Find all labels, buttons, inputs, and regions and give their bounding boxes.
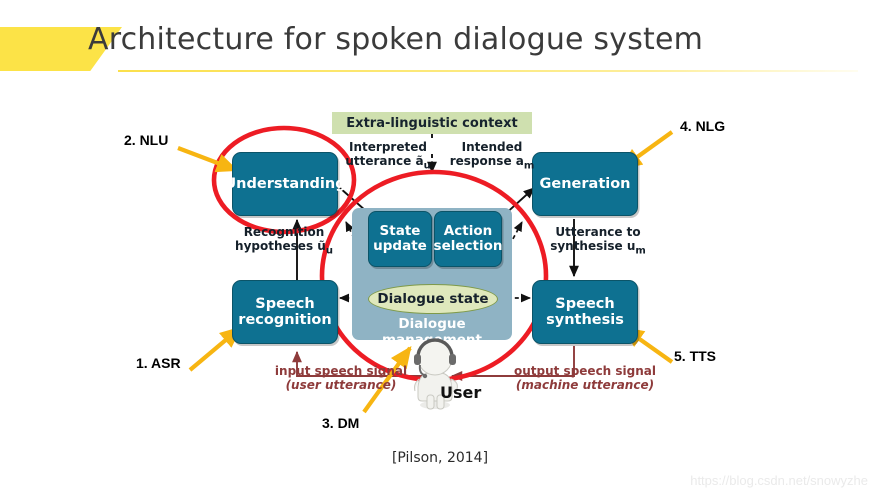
label-input-speech-signal: input speech signal (user utterance) [258, 364, 424, 393]
box-speech-synthesis-line1: Speechsynthesis [546, 296, 624, 328]
label-recognition-hypotheses: Recognition hypotheses ũu [226, 225, 342, 258]
callout-dm: 3. DM [322, 415, 359, 431]
label-intended-response-line2: response a [450, 154, 524, 168]
label-interpreted-utterance-sub: u [424, 161, 431, 172]
label-recognition-hypotheses-line2: hypotheses ũ [235, 239, 326, 253]
box-generation[interactable]: Generation [532, 152, 638, 216]
extra-linguistic-context-bar: Extra-linguistic context [332, 112, 532, 134]
label-utterance-to-synthesise-sub: m [635, 246, 645, 257]
label-input-speech-signal-main: input speech signal [275, 364, 407, 378]
box-speech-recognition-line1: Speechrecognition [238, 296, 331, 328]
box-understanding[interactable]: Understanding [232, 152, 338, 216]
user-label: User [440, 383, 481, 402]
callout-nlg: 4. NLG [680, 118, 725, 134]
callout-tts: 5. TTS [674, 348, 716, 364]
label-output-speech-signal-main: output speech signal [514, 364, 656, 378]
label-recognition-hypotheses-sub: u [326, 246, 333, 257]
label-recognition-hypotheses-line1: Recognition [244, 225, 325, 239]
watermark: https://blog.csdn.net/snowyzhe [690, 473, 868, 488]
box-speech-recognition[interactable]: Speechrecognition [232, 280, 338, 344]
slide-header: Architecture for spoken dialogue system [0, 0, 880, 80]
architecture-diagram: Extra-linguistic context Dialogue manage… [0, 80, 880, 494]
label-interpreted-utterance: Interpreted utterance ãu [340, 140, 436, 173]
label-input-speech-signal-sub: (user utterance) [258, 378, 424, 392]
box-action-selection[interactable]: Actionselection [434, 211, 502, 267]
header-divider [118, 70, 858, 72]
callout-nlu: 2. NLU [124, 132, 168, 148]
label-intended-response: Intended response am [444, 140, 540, 173]
label-interpreted-utterance-line2: utterance ã [345, 154, 423, 168]
label-output-speech-signal: output speech signal (machine utterance) [500, 364, 670, 393]
label-output-speech-signal-sub: (machine utterance) [500, 378, 670, 392]
dialogue-state-node[interactable]: Dialogue state [368, 284, 498, 314]
label-utterance-to-synthesise: Utterance to synthesise um [540, 225, 656, 258]
label-intended-response-sub: m [524, 161, 534, 172]
label-intended-response-line1: Intended [462, 140, 523, 154]
box-action-selection-text: Actionselection [434, 224, 503, 254]
callout-asr: 1. ASR [136, 355, 181, 371]
label-utterance-to-synthesise-line2: synthesise u [550, 239, 635, 253]
label-interpreted-utterance-line1: Interpreted [349, 140, 427, 154]
box-state-update-text: Stateupdate [373, 224, 427, 254]
box-speech-synthesis[interactable]: Speechsynthesis [532, 280, 638, 344]
label-utterance-to-synthesise-line1: Utterance to [555, 225, 640, 239]
citation-text: [Pilson, 2014] [0, 450, 880, 466]
page-title: Architecture for spoken dialogue system [88, 22, 703, 57]
box-state-update[interactable]: Stateupdate [368, 211, 432, 267]
